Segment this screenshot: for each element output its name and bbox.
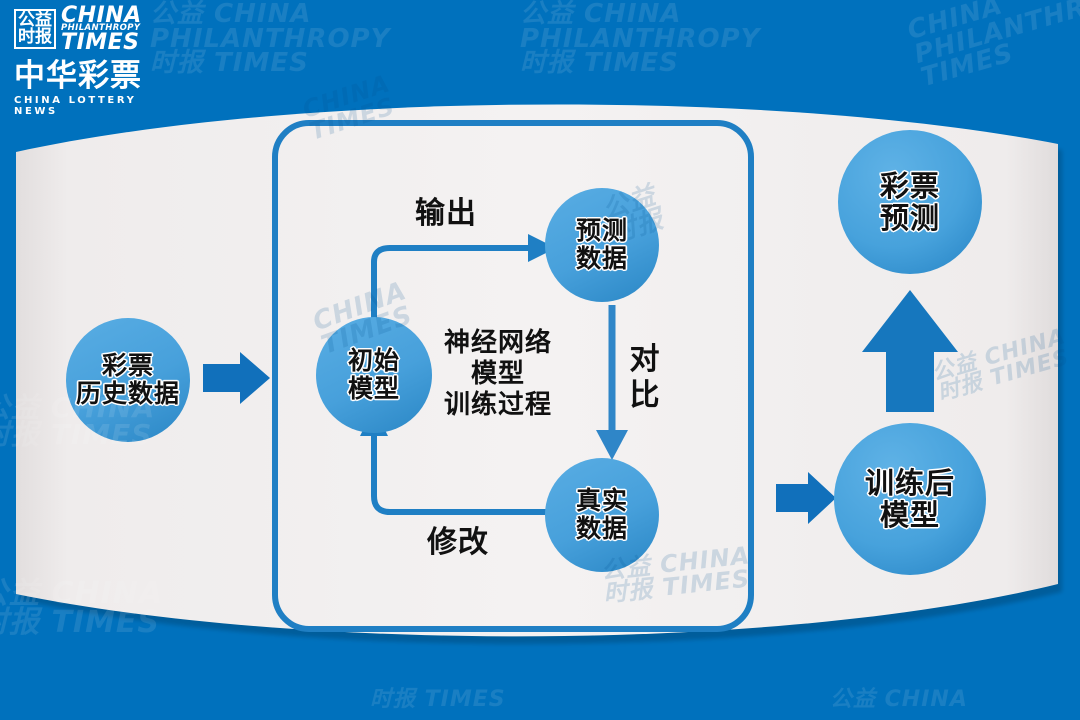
logo-lottery-en: CHINA LOTTERY NEWS [14,95,164,117]
circle-trained-model[interactable] [834,423,986,575]
infographic-canvas: 公益 CHINA PHILANTHROPY 时报 TIMES公益 CHINA P… [0,0,1080,720]
logo-chinese-badge: 公益 时报 [14,9,56,49]
logo-english-block: CHINA PHILANTHROPY TIMES [61,6,142,52]
circle-history[interactable] [66,318,190,442]
logo-badge-line2: 时报 [18,29,52,46]
circle-real-data[interactable] [545,458,659,572]
edge-label-modify: 修改 [398,525,518,561]
circle-lottery-prediction[interactable] [838,130,982,274]
logo-en-line3: TIMES [61,33,142,52]
edge-label-output: 输出 [386,196,506,232]
circle-predicted-data[interactable] [545,188,659,302]
logo-lottery-cn: 中华彩票 [14,61,164,92]
publisher-logo: 公益 时报 CHINA PHILANTHROPY TIMES 中华彩票 CHIN… [14,6,164,117]
logo-primary-row: 公益 时报 CHINA PHILANTHROPY TIMES [14,6,164,52]
edge-label-compare: 对 比 [585,342,705,414]
logo-secondary-row: 中华彩票 CHINA LOTTERY NEWS [14,61,164,117]
center-process-text: 神经网络 模型 训练过程 [398,328,598,422]
